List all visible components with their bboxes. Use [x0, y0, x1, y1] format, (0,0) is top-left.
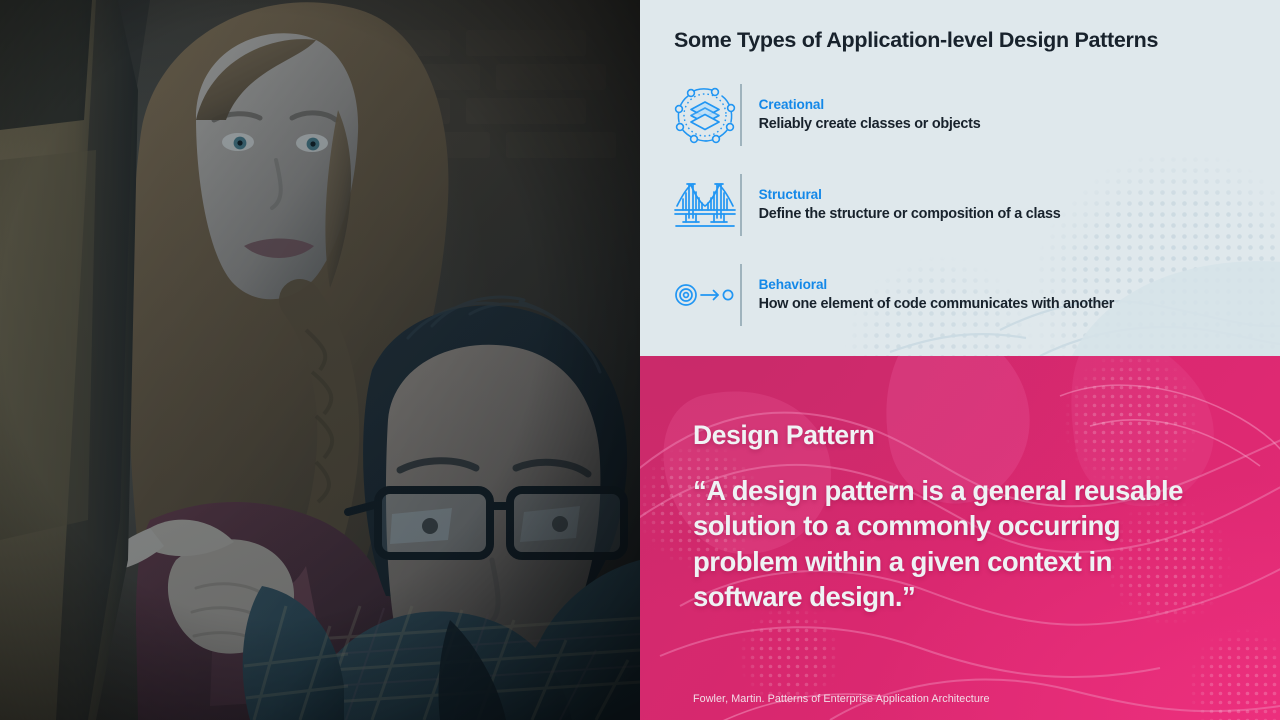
pattern-description: Reliably create classes or objects	[759, 115, 1280, 134]
photo-two-people-at-monitor	[0, 0, 640, 720]
pattern-types-panel: Some Types of Application-level Design P…	[640, 0, 1280, 356]
pattern-divider	[740, 264, 742, 326]
pattern-name: Structural	[759, 186, 1280, 204]
pattern-item-creational[interactable]: Creational Reliably create classes or ob…	[640, 84, 1280, 146]
definition-heading: Design Pattern	[693, 420, 874, 451]
bridge-icon	[670, 174, 740, 236]
definition-citation: Fowler, Martin. Patterns of Enterprise A…	[693, 693, 990, 705]
content-column: Some Types of Application-level Design P…	[640, 0, 1280, 720]
page-title: Some Types of Application-level Design P…	[674, 28, 1244, 54]
pattern-text: Behavioral How one element of code commu…	[759, 276, 1280, 315]
pattern-divider	[740, 84, 742, 146]
pattern-description: How one element of code communicates wit…	[759, 295, 1280, 314]
pattern-text: Structural Define the structure or compo…	[759, 186, 1280, 225]
pattern-item-behavioral[interactable]: Behavioral How one element of code commu…	[640, 264, 1280, 326]
layers-network-icon	[670, 84, 740, 146]
pattern-list: Creational Reliably create classes or ob…	[640, 84, 1280, 326]
slide: Some Types of Application-level Design P…	[0, 0, 1280, 720]
definition-quote: “A design pattern is a general reusable …	[693, 473, 1193, 615]
pattern-divider	[740, 174, 742, 236]
pattern-item-structural[interactable]: Structural Define the structure or compo…	[640, 174, 1280, 236]
target-arrow-node-icon	[670, 264, 740, 326]
pattern-name: Behavioral	[759, 276, 1280, 294]
pattern-name: Creational	[759, 96, 1280, 114]
pattern-description: Define the structure or composition of a…	[759, 205, 1280, 224]
definition-panel: Design Pattern “A design pattern is a ge…	[640, 356, 1280, 720]
pattern-text: Creational Reliably create classes or ob…	[759, 96, 1280, 135]
